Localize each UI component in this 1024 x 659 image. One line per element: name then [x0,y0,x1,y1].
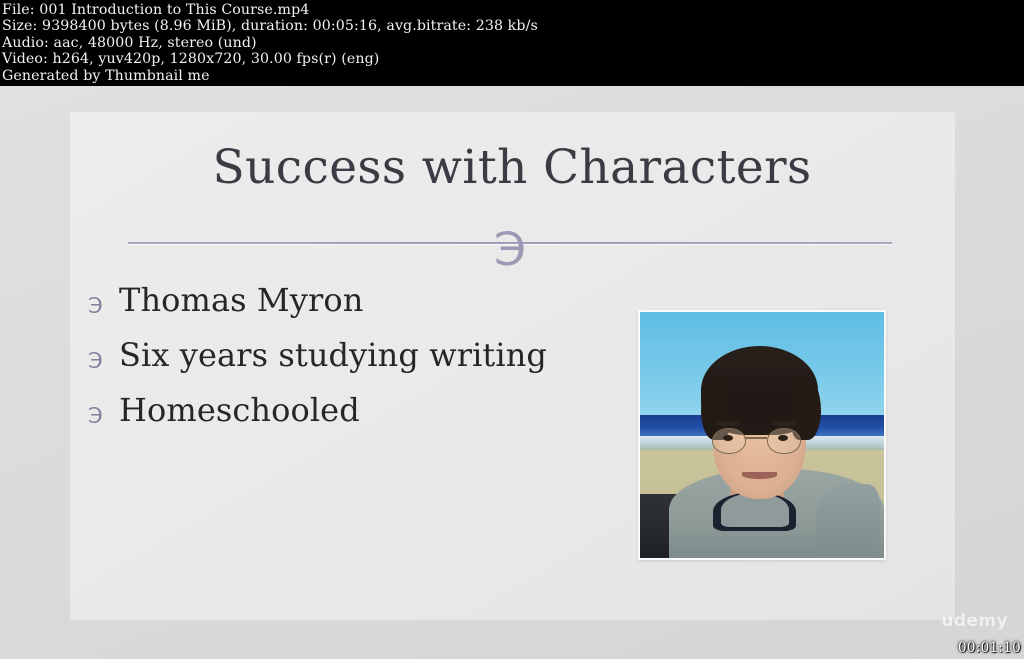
presenter-photo [640,312,884,558]
bullet-ornament-icon: ℈ [88,388,119,436]
list-item: ℈ Six years studying writing [88,333,558,381]
slide-divider: ℈ [128,236,892,280]
photo-glasses-bridge [745,437,767,439]
bullet-ornament-icon: ℈ [88,333,119,381]
metadata-line-generator: Generated by Thumbnail me [2,68,1024,84]
thumbnail-sheet-screen: File: 001 Introduction to This Course.mp… [0,0,1024,659]
udemy-watermark: udemy [941,611,1008,631]
slide-bullet-list: ℈ Thomas Myron ℈ Six years studying writ… [88,278,558,443]
bullet-text: Homeschooled [119,388,558,433]
photo-eye-right [778,435,788,441]
metadata-line-file: File: 001 Introduction to This Course.mp… [2,2,1024,18]
divider-ornament-icon: ℈ [482,220,538,266]
photo-shoulder-right [816,484,879,558]
bullet-text: Six years studying writing [119,333,558,378]
slide-title: Success with Characters [0,140,1024,196]
metadata-line-size: Size: 9398400 bytes (8.96 MiB), duration… [2,18,1024,34]
photo-glasses-left-lens [712,428,746,455]
presenter-photo-frame [638,310,886,560]
bullet-text: Thomas Myron [119,278,558,323]
metadata-line-video: Video: h264, yuv420p, 1280x720, 30.00 fp… [2,51,1024,67]
video-metadata-header: File: 001 Introduction to This Course.mp… [0,0,1024,86]
list-item: ℈ Homeschooled [88,388,558,436]
timecode-label: 00:01:10 [958,640,1021,656]
video-frame-slide: Success with Characters ℈ ℈ Thomas Myron… [0,86,1024,659]
metadata-line-audio: Audio: aac, 48000 Hz, stereo (und) [2,35,1024,51]
list-item: ℈ Thomas Myron [88,278,558,326]
photo-glasses-right-lens [767,428,801,455]
bullet-ornament-icon: ℈ [88,278,119,326]
photo-eye-left [723,435,733,441]
